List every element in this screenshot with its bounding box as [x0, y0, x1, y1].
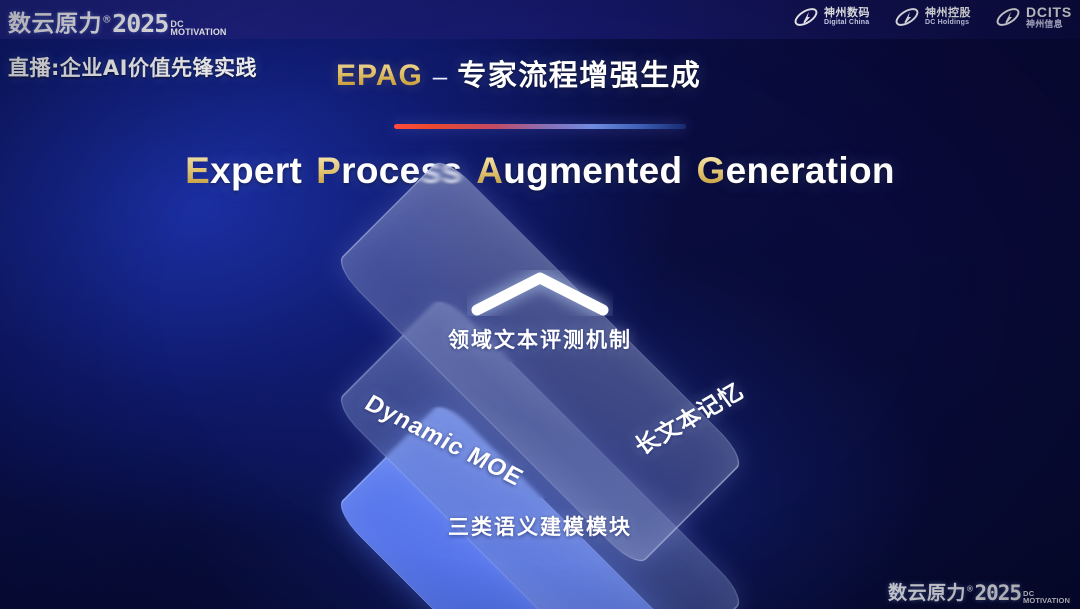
- slide-canvas: 数云原力® 2025 DC MOTIVATION 神州数码 Digital Ch…: [0, 0, 1080, 609]
- expanded-rest: eneration: [726, 150, 895, 191]
- partner-name-en: 神州信息: [1026, 20, 1072, 29]
- title-acronym: EPAG: [336, 59, 423, 93]
- partner-name-cn: DCITS: [1026, 5, 1072, 20]
- layer-stack-diagram: 领域文本评测机制 三类语义建模模块: [0, 228, 1080, 568]
- partner-name-en: DC Holdings: [925, 19, 971, 26]
- expanded-word-generation: Generation: [696, 150, 894, 191]
- expanded-cap: A: [476, 150, 503, 191]
- partner-logo-text: 神州数码 Digital China: [824, 8, 870, 27]
- registered-mark: ®: [102, 14, 112, 25]
- live-session-label: 直播:企业AI价值先锋实践: [8, 52, 257, 82]
- expanded-rest: xpert: [210, 150, 302, 191]
- brand-logo: 数云原力® 2025 DC MOTIVATION: [8, 4, 227, 38]
- swirl-logo-icon: [793, 4, 819, 30]
- partner-logo-dc-holdings: 神州控股 DC Holdings: [894, 4, 971, 30]
- title-chinese: 专家流程增强生成: [457, 52, 701, 94]
- brand-watermark: 数云原力® 2025 DC MOTIVATION: [888, 578, 1070, 605]
- expanded-cap: P: [316, 150, 341, 191]
- brand-logo-subtitle: DC MOTIVATION: [170, 20, 226, 37]
- diagram-label-top: 领域文本评测机制: [448, 324, 632, 354]
- expanded-acronym: ExpertProcessAugmentedGeneration: [0, 150, 1080, 192]
- page-title: EPAG – 专家流程增强生成: [336, 52, 701, 94]
- chevron-up-icon: [467, 270, 613, 316]
- watermark-motivation: MOTIVATION: [1023, 597, 1070, 604]
- partner-logo-text: DCITS 神州信息: [1026, 5, 1072, 29]
- diagram-label-bottom: 三类语义建模模块: [448, 511, 632, 541]
- partner-logo-text: 神州控股 DC Holdings: [925, 8, 971, 27]
- expanded-rest: ugmented: [503, 150, 682, 191]
- partner-name-cn: 神州控股: [925, 8, 971, 20]
- partner-name-cn: 神州数码: [824, 8, 870, 20]
- watermark-subtitle: DC MOTIVATION: [1023, 590, 1070, 604]
- expanded-word-expert: Expert: [185, 150, 302, 191]
- partner-logo-digital-china: 神州数码 Digital China: [793, 4, 870, 30]
- partner-logo-dcits: DCITS 神州信息: [995, 4, 1072, 30]
- expanded-cap: E: [185, 150, 210, 191]
- partner-name-en: Digital China: [824, 19, 870, 26]
- brand-motivation: MOTIVATION: [170, 28, 226, 37]
- gradient-divider: [394, 124, 686, 129]
- watermark-year: 2025: [974, 581, 1021, 605]
- title-dash: –: [433, 61, 447, 92]
- expanded-cap: G: [696, 150, 725, 191]
- watermark-cn: 数云原力®: [888, 578, 974, 605]
- swirl-logo-icon: [995, 4, 1021, 30]
- partner-logo-group: 神州数码 Digital China 神州控股 DC Holdings: [793, 4, 1072, 30]
- expanded-word-augmented: Augmented: [476, 150, 682, 191]
- brand-logo-year: 2025: [112, 9, 168, 38]
- brand-logo-cn: 数云原力®: [8, 4, 112, 38]
- swirl-logo-icon: [894, 4, 920, 30]
